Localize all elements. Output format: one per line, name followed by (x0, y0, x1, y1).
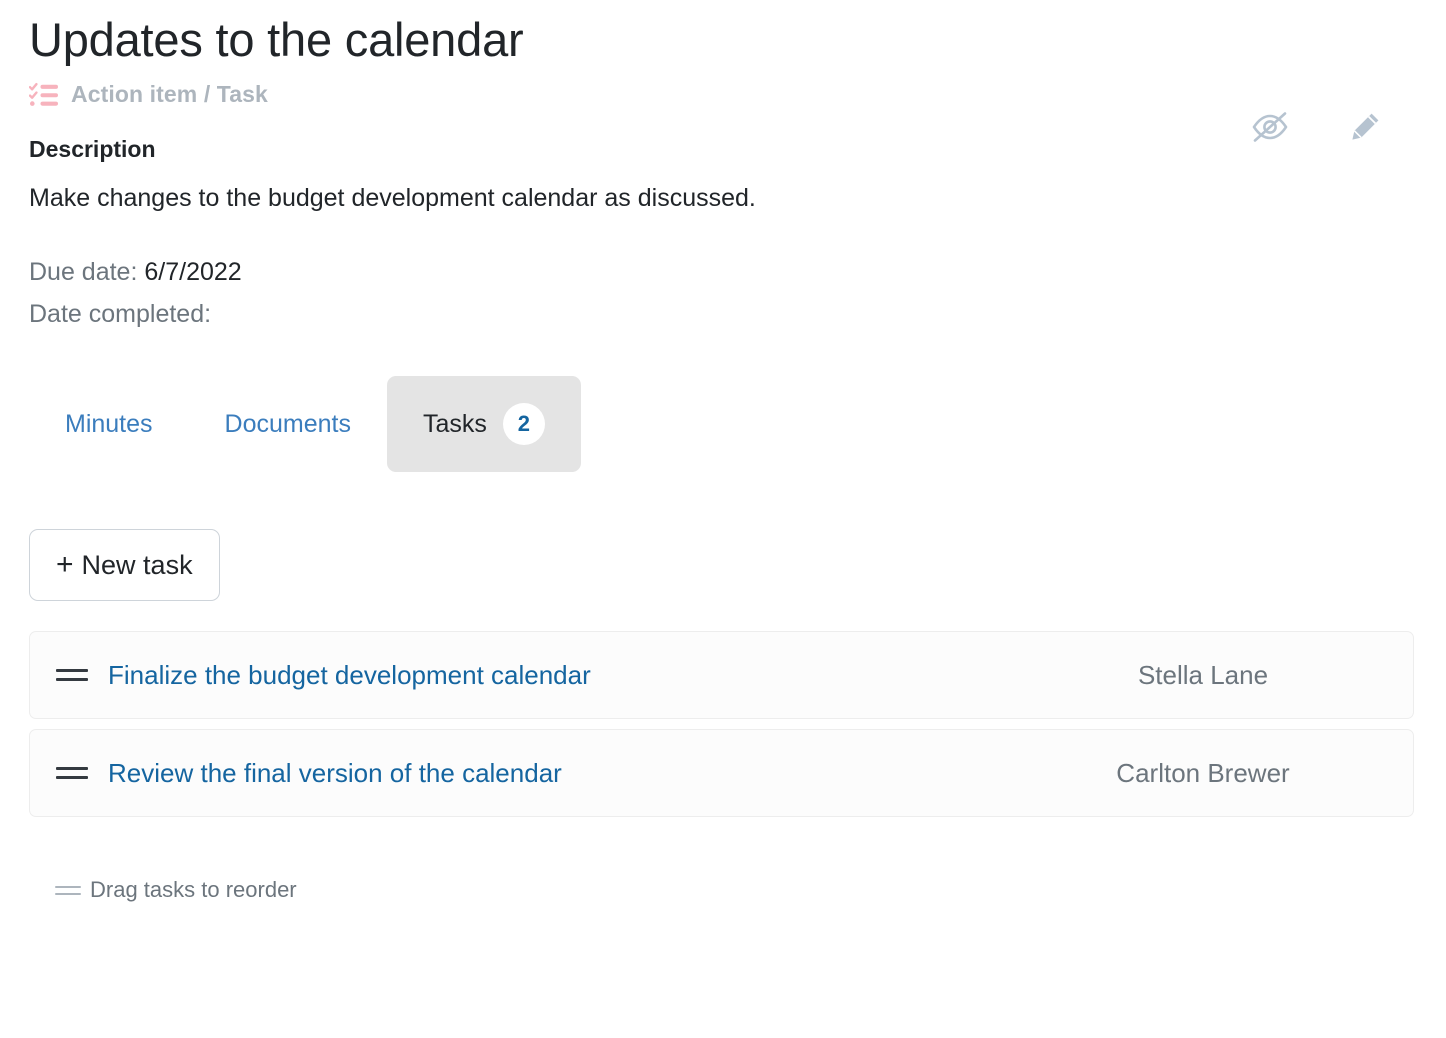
tab-bar: Minutes Documents Tasks 2 (29, 376, 1417, 472)
task-list: Finalize the budget development calendar… (29, 631, 1417, 817)
task-meta: Due date: 6/7/2022 Date completed: (29, 255, 1417, 332)
page-header: Updates to the calendar Action item / Ta… (29, 0, 1417, 109)
date-completed-label: Date completed: (29, 300, 211, 328)
task-title-link[interactable]: Review the final version of the calendar (108, 758, 562, 789)
task-detail-page: Updates to the calendar Action item / Ta… (0, 0, 1446, 1038)
drag-handle-icon[interactable] (56, 664, 88, 686)
drag-handle-icon[interactable] (56, 762, 88, 784)
new-task-button-label: New task (82, 550, 193, 581)
eye-off-icon[interactable] (1251, 108, 1289, 146)
description-heading: Description (29, 135, 1417, 165)
pencil-icon[interactable] (1346, 108, 1384, 146)
page-title: Updates to the calendar (29, 14, 1417, 67)
tab-tasks-label: Tasks (423, 410, 487, 439)
description-section: Description Make changes to the budget d… (29, 135, 1417, 333)
tab-tasks-badge: 2 (503, 403, 545, 445)
tab-documents[interactable]: Documents (189, 376, 387, 472)
tab-minutes[interactable]: Minutes (29, 376, 189, 472)
drag-handle-icon (55, 881, 81, 899)
due-date-value: 6/7/2022 (144, 258, 241, 286)
task-assignee: Stella Lane (993, 660, 1413, 691)
header-actions (1251, 108, 1384, 146)
breadcrumb-label: Action item / Task (71, 81, 268, 108)
plus-icon: + (56, 550, 74, 580)
table-row[interactable]: Finalize the budget development calendar… (29, 631, 1414, 719)
table-row[interactable]: Review the final version of the calendar… (29, 729, 1414, 817)
tab-documents-label: Documents (225, 410, 351, 439)
checklist-icon (29, 82, 59, 108)
task-title-link[interactable]: Finalize the budget development calendar (108, 660, 591, 691)
tab-tasks[interactable]: Tasks 2 (387, 376, 581, 472)
new-task-button[interactable]: + New task (29, 529, 220, 601)
due-date-row: Due date: 6/7/2022 (29, 255, 1417, 291)
tab-minutes-label: Minutes (65, 410, 153, 439)
due-date-label: Due date: (29, 258, 137, 286)
description-body: Make changes to the budget development c… (29, 182, 1417, 216)
reorder-hint-label: Drag tasks to reorder (90, 877, 297, 903)
breadcrumb: Action item / Task (29, 81, 1417, 109)
task-assignee: Carlton Brewer (993, 758, 1413, 789)
reorder-hint: Drag tasks to reorder (29, 877, 1417, 903)
date-completed-row: Date completed: (29, 297, 1417, 333)
